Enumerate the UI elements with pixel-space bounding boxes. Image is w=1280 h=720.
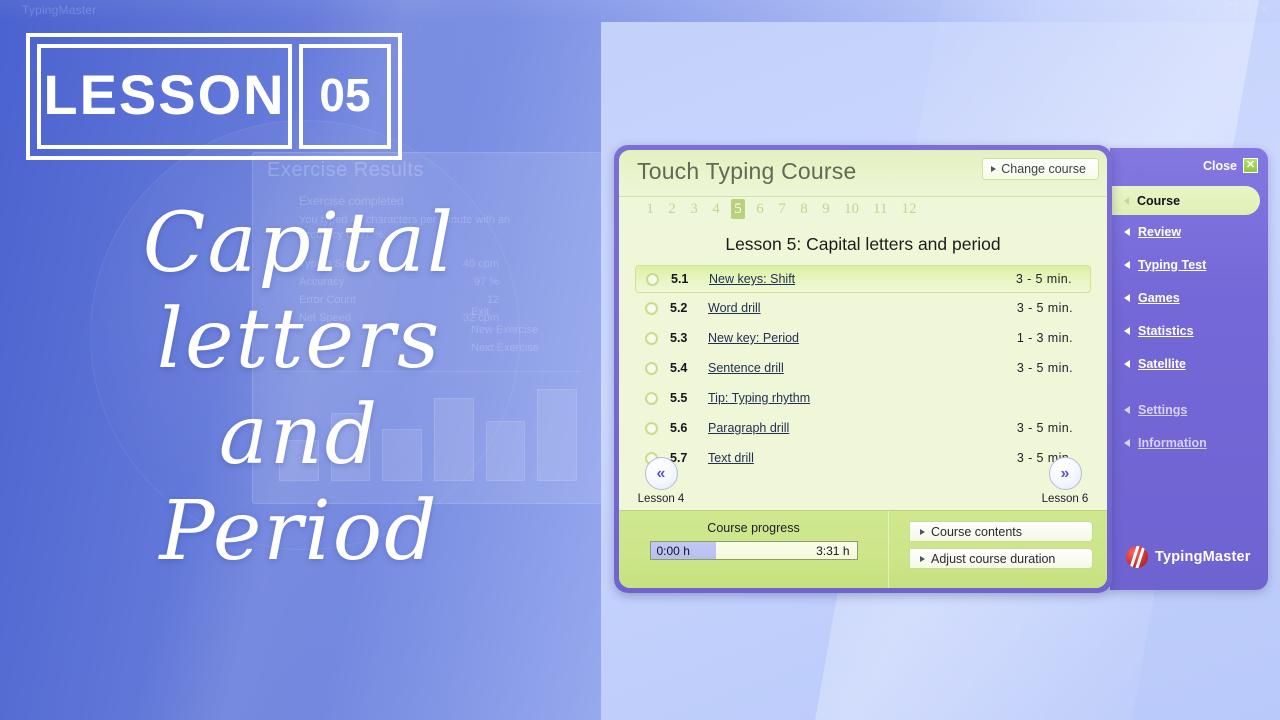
status-circle-icon <box>646 273 659 286</box>
progress-track: 0:00 h 3:31 h <box>650 541 858 560</box>
previous-lesson-label: Lesson 4 <box>631 493 691 505</box>
drill-link[interactable]: New key: Period <box>708 331 799 345</box>
double-chevron-right-icon[interactable]: » <box>1049 457 1082 490</box>
drill-row[interactable]: 5.2 Word drill 3 - 5 min. <box>635 293 1091 323</box>
typingmaster-logo-icon <box>1126 546 1148 568</box>
lesson-badge-number: 05 <box>299 44 391 149</box>
sidebar-item-label: Course <box>1137 194 1180 208</box>
progress-elapsed: 0:00 h <box>657 544 690 558</box>
drill-number: 5.2 <box>670 301 708 315</box>
lesson-badge-word: LESSON <box>37 44 292 149</box>
lesson-number-12[interactable]: 12 <box>898 199 919 219</box>
course-actions: Course contents Adjust course duration <box>889 511 1107 588</box>
status-circle-icon <box>645 422 658 435</box>
lesson-number-10[interactable]: 10 <box>841 199 862 219</box>
lesson-number-4[interactable]: 4 <box>709 199 723 219</box>
lesson-badge: LESSON 05 <box>26 33 402 160</box>
triangle-left-icon <box>1124 294 1130 302</box>
sidebar-item-label: Games <box>1138 291 1180 305</box>
window-title: Touch Typing Course <box>637 158 856 185</box>
course-window: Touch Typing Course Change course 1 2 3 … <box>614 145 1112 593</box>
chevron-left-icon <box>1124 197 1129 205</box>
drill-duration: 3 - 5 min. <box>1017 301 1073 315</box>
app-sidebar: Close ✕ Course Review Typing Test Games <box>1110 148 1268 590</box>
headline-line: letters <box>16 292 582 388</box>
close-button-label: Close <box>1203 159 1237 173</box>
status-circle-icon <box>645 302 658 315</box>
drill-number: 5.3 <box>670 331 708 345</box>
drill-row[interactable]: 5.7 Text drill 3 - 5 min. <box>635 443 1091 473</box>
progress-section: Course progress 0:00 h 3:31 h <box>619 511 889 588</box>
sidebar-menu: Course Review Typing Test Games Statisti… <box>1110 186 1268 459</box>
drill-link[interactable]: Paragraph drill <box>708 421 789 435</box>
drill-list: 5.1 New keys: Shift 3 - 5 min. 5.2 Word … <box>619 265 1107 473</box>
sidebar-item-games[interactable]: Games <box>1110 281 1268 314</box>
headline-line: Capital <box>16 196 582 292</box>
slide-headline: Capital letters and Period <box>16 196 582 580</box>
triangle-right-icon <box>991 166 996 172</box>
sidebar-item-course[interactable]: Course <box>1110 186 1260 215</box>
drill-row[interactable]: 5.5 Tip: Typing rhythm <box>635 383 1091 413</box>
drill-number: 5.6 <box>670 421 708 435</box>
drill-row[interactable]: 5.6 Paragraph drill 3 - 5 min. <box>635 413 1091 443</box>
brand-logo: TypingMaster <box>1126 546 1251 568</box>
sidebar-item-typing-test[interactable]: Typing Test <box>1110 248 1268 281</box>
drill-duration: 1 - 3 min. <box>1017 331 1073 345</box>
lesson-number-9[interactable]: 9 <box>819 199 833 219</box>
triangle-left-icon <box>1124 406 1130 414</box>
next-lesson-button[interactable]: » Lesson 6 <box>1035 457 1095 505</box>
triangle-right-icon <box>920 556 925 562</box>
double-chevron-left-icon[interactable]: « <box>645 457 678 490</box>
triangle-left-icon <box>1124 439 1130 447</box>
triangle-right-icon <box>920 529 925 535</box>
drill-link[interactable]: Sentence drill <box>708 361 784 375</box>
drill-link[interactable]: Word drill <box>708 301 761 315</box>
drill-duration: 3 - 5 min. <box>1016 272 1072 286</box>
lesson-number-6[interactable]: 6 <box>753 199 767 219</box>
lesson-title: Lesson 5: Capital letters and period <box>619 234 1107 255</box>
drill-duration: 3 - 5 min. <box>1017 361 1073 375</box>
progress-label: Course progress <box>619 521 888 535</box>
lesson-number-1[interactable]: 1 <box>643 199 657 219</box>
lesson-number-strip: 1 2 3 4 5 6 7 8 9 10 11 12 <box>619 197 1107 221</box>
course-progress-bar: Course progress 0:00 h 3:31 h Course con… <box>619 510 1107 588</box>
drill-duration: 3 - 5 min. <box>1017 421 1073 435</box>
drill-number: 5.5 <box>670 391 708 405</box>
sidebar-item-settings[interactable]: Settings <box>1110 393 1268 426</box>
change-course-label: Change course <box>1001 162 1086 176</box>
change-course-button[interactable]: Change course <box>982 158 1099 180</box>
sidebar-item-label: Review <box>1138 225 1181 239</box>
adjust-course-duration-button[interactable]: Adjust course duration <box>909 548 1093 569</box>
status-circle-icon <box>645 362 658 375</box>
lesson-number-11[interactable]: 11 <box>870 199 890 219</box>
drill-number: 5.4 <box>670 361 708 375</box>
drill-row[interactable]: 5.4 Sentence drill 3 - 5 min. <box>635 353 1091 383</box>
close-icon[interactable]: ✕ <box>1243 158 1258 173</box>
sidebar-item-review[interactable]: Review <box>1110 215 1268 248</box>
next-lesson-label: Lesson 6 <box>1035 493 1095 505</box>
sidebar-item-statistics[interactable]: Statistics <box>1110 314 1268 347</box>
close-button[interactable]: Close ✕ <box>1203 158 1258 173</box>
sidebar-item-label: Statistics <box>1138 324 1194 338</box>
sidebar-item-label: Settings <box>1138 403 1187 417</box>
sidebar-item-label: Information <box>1138 436 1207 450</box>
drill-link[interactable]: Text drill <box>708 451 754 465</box>
sidebar-item-label: Satellite <box>1138 357 1186 371</box>
lesson-number-8[interactable]: 8 <box>797 199 811 219</box>
lesson-number-3[interactable]: 3 <box>687 199 701 219</box>
lesson-number-2[interactable]: 2 <box>665 199 679 219</box>
course-contents-label: Course contents <box>931 525 1022 539</box>
triangle-left-icon <box>1124 360 1130 368</box>
drill-row[interactable]: 5.3 New key: Period 1 - 3 min. <box>635 323 1091 353</box>
triangle-left-icon <box>1124 228 1130 236</box>
drill-link[interactable]: Tip: Typing rhythm <box>708 391 810 405</box>
headline-line: Period <box>16 484 582 580</box>
lesson-number-7[interactable]: 7 <box>775 199 789 219</box>
lesson-number-5[interactable]: 5 <box>731 199 745 219</box>
status-circle-icon <box>645 392 658 405</box>
headline-line: and <box>16 388 582 484</box>
drill-row[interactable]: 5.1 New keys: Shift 3 - 5 min. <box>635 265 1091 293</box>
previous-lesson-button[interactable]: « Lesson 4 <box>631 457 691 505</box>
sidebar-item-information[interactable]: Information <box>1110 426 1268 459</box>
drill-link[interactable]: New keys: Shift <box>709 272 795 286</box>
window-header: Touch Typing Course Change course <box>619 150 1107 197</box>
brand-name: TypingMaster <box>1155 549 1251 565</box>
progress-total: 3:31 h <box>816 544 849 558</box>
adjust-course-duration-label: Adjust course duration <box>931 552 1055 566</box>
triangle-left-icon <box>1124 261 1130 269</box>
window-content: Touch Typing Course Change course 1 2 3 … <box>619 150 1107 588</box>
sidebar-item-satellite[interactable]: Satellite <box>1110 347 1268 380</box>
slide-canvas: TypingMaster – ❐ ✕ Exercise Results Exer… <box>0 0 1280 720</box>
course-contents-button[interactable]: Course contents <box>909 521 1093 542</box>
sidebar-item-label: Typing Test <box>1138 258 1206 272</box>
status-circle-icon <box>645 332 658 345</box>
sidebar-divider <box>1110 380 1268 393</box>
drill-number: 5.1 <box>671 272 709 286</box>
triangle-left-icon <box>1124 327 1130 335</box>
